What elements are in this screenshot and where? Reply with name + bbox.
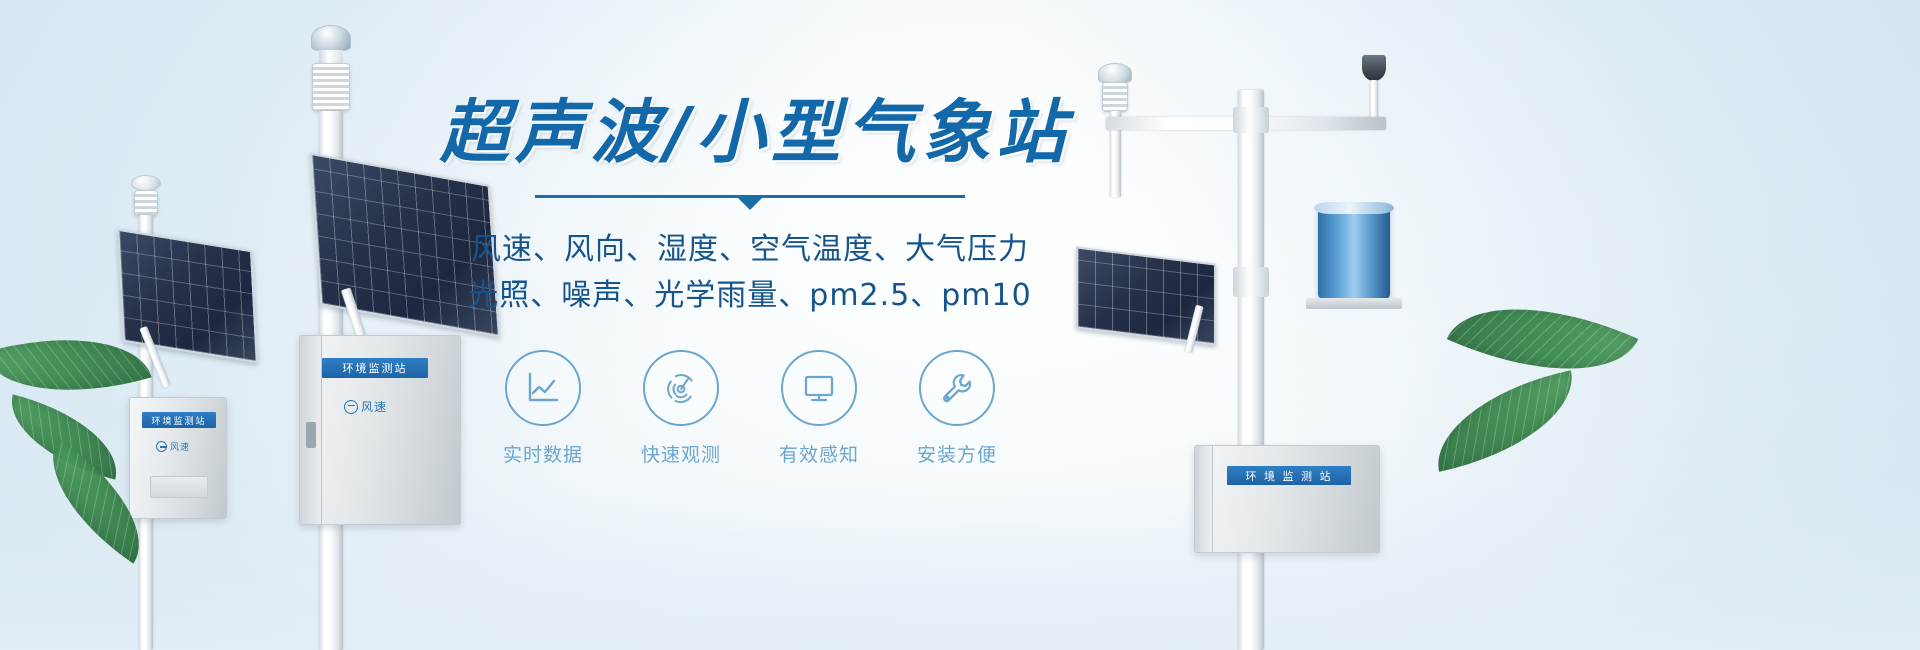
center-sensor-neck [319, 50, 343, 64]
left-weather-station: 环境监测站 风速 [95, 175, 275, 650]
feature-item-effective-sensing[interactable]: 有效感知 [769, 350, 869, 467]
right-equipment-cabinet: 环 境 监 测 站 [1194, 445, 1380, 553]
feature-item-easy-install[interactable]: 安装方便 [907, 350, 1007, 467]
right-main-mast [1238, 90, 1264, 650]
right-cabinet-label: 环 境 监 测 站 [1227, 466, 1351, 485]
banner-text-block: 超声波/小型气象站 风速、风向、湿度、空气温度、大气压力 光照、噪声、光学雨量、… [440, 96, 1060, 467]
feature-label: 安装方便 [907, 440, 1007, 467]
monitor-screen-icon [781, 350, 857, 426]
feature-list: 实时数据 快速观测 [440, 350, 1060, 467]
subtitle-line-2: 光照、噪声、光学雨量、pm2.5、pm10 [440, 273, 1060, 320]
right-cabinet-seam [1195, 446, 1213, 552]
weather-station-banner: 环境监测站 风速 环境监测站 风速 [0, 0, 1920, 650]
right-wind-vane-sensor [1362, 55, 1386, 81]
left-solar-panel [117, 229, 258, 364]
left-cabinet-vent [150, 476, 208, 498]
left-cabinet-label: 环境监测站 [142, 412, 216, 428]
leaf-decoration-right-lower [1424, 370, 1586, 472]
center-radiation-shield [312, 63, 350, 111]
left-cabinet-brand: 风速 [156, 440, 190, 453]
wrench-icon [919, 350, 995, 426]
page-title: 超声波/小型气象站 [440, 96, 1060, 171]
left-radiation-shield [134, 190, 158, 216]
radar-signal-icon [643, 350, 719, 426]
right-rain-gauge [1318, 207, 1390, 299]
subtitle-line-1: 风速、风向、湿度、空气温度、大气压力 [440, 227, 1060, 274]
line-chart-icon [505, 350, 581, 426]
center-ultrasonic-anemometer [311, 25, 351, 51]
feature-item-fast-observation[interactable]: 快速观测 [631, 350, 731, 467]
center-cabinet-hinge [306, 422, 316, 448]
right-mast-collar-lower [1233, 267, 1269, 297]
feature-label: 有效感知 [769, 440, 869, 467]
center-cabinet-label: 环境监测站 [322, 358, 428, 378]
right-mast-collar-upper [1233, 107, 1269, 133]
title-divider [535, 193, 965, 211]
feature-item-realtime-data[interactable]: 实时数据 [493, 350, 593, 467]
right-rain-gauge-base [1306, 298, 1402, 309]
right-radiation-shield [1102, 82, 1128, 112]
divider-triangle-icon [737, 197, 763, 210]
center-cabinet-brand: 风速 [344, 398, 387, 415]
brand-logo-icon [344, 400, 358, 414]
brand-logo-icon [156, 441, 167, 452]
feature-label: 快速观测 [631, 440, 731, 467]
right-weather-station: 环 境 监 测 站 [1070, 55, 1410, 650]
feature-label: 实时数据 [493, 440, 593, 467]
left-ultrasonic-sensor [131, 175, 161, 191]
left-equipment-cabinet: 环境监测站 风速 [129, 397, 227, 519]
right-rain-gauge-rim [1314, 202, 1394, 214]
center-equipment-cabinet: 环境监测站 风速 [299, 335, 461, 525]
right-ultrasonic-anemometer [1098, 63, 1132, 83]
